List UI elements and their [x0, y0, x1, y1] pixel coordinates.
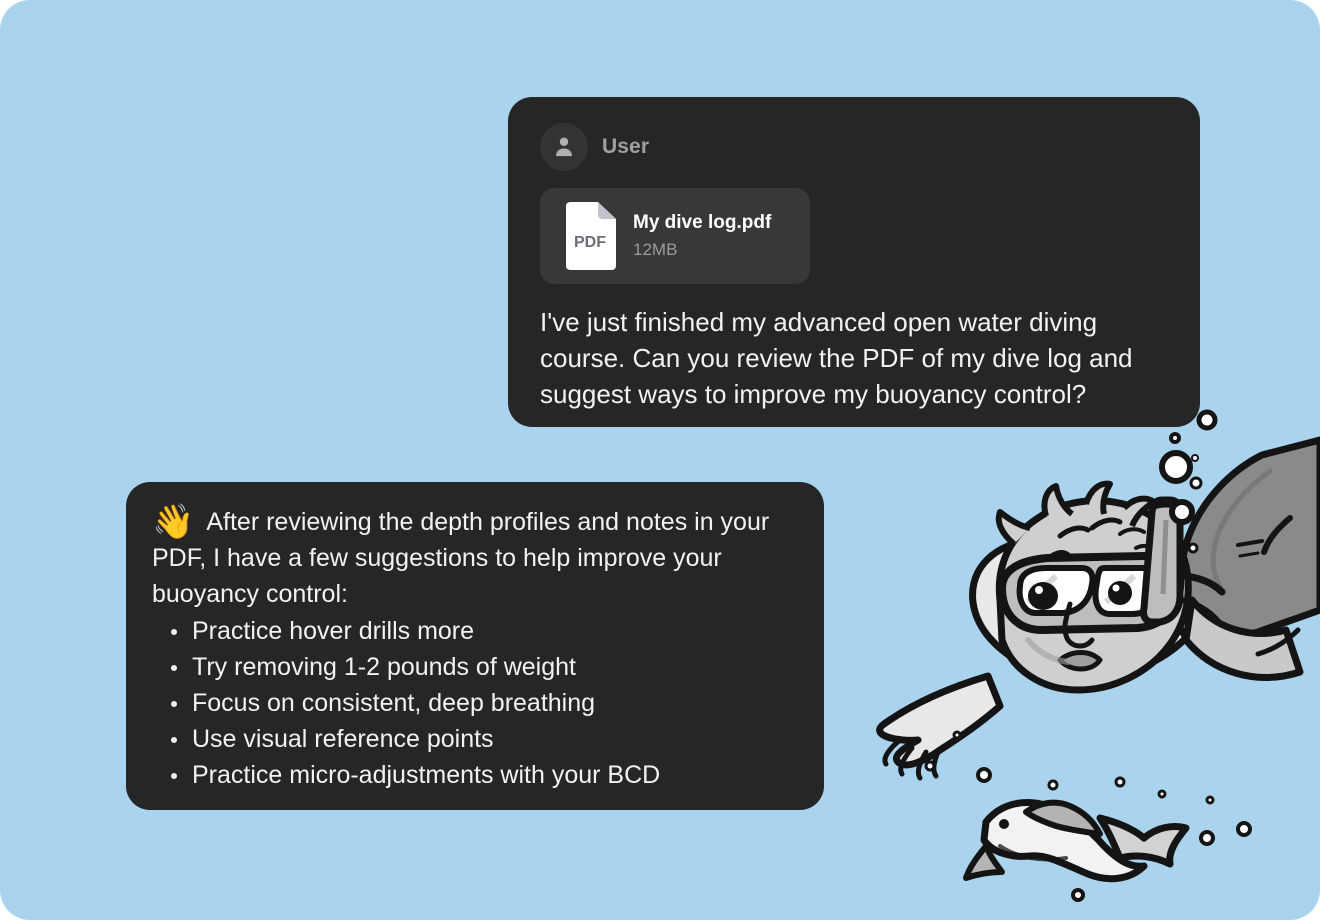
waving-hand-emoji: 👋	[152, 504, 194, 540]
diver-torso	[973, 538, 1186, 678]
list-item: Use visual reference points	[152, 721, 794, 757]
user-message-text: I've just finished my advanced open wate…	[540, 304, 1168, 412]
diver-snorkel	[1143, 500, 1180, 622]
user-message-bubble: User PDF My dive log.pdf 12MB I've just …	[508, 97, 1200, 427]
list-item: Practice micro-adjustments with your BCD	[152, 757, 794, 793]
attachment-file-name: My dive log.pdf	[633, 212, 771, 234]
chat-canvas: User PDF My dive log.pdf 12MB I've just …	[0, 0, 1320, 920]
user-avatar-icon	[540, 123, 588, 171]
list-item: Focus on consistent, deep breathing	[152, 685, 794, 721]
diver-left-arm	[864, 676, 1000, 778]
user-message-header: User	[540, 123, 1168, 171]
diver-wetsuit-arm	[1182, 440, 1320, 677]
assistant-message-body: 👋 After reviewing the depth profiles and…	[152, 504, 794, 793]
air-bubbles	[926, 387, 1250, 900]
attachment-card[interactable]: PDF My dive log.pdf 12MB	[540, 188, 810, 284]
list-item: Practice hover drills more	[152, 613, 794, 649]
attachment-file-size: 12MB	[633, 240, 771, 260]
pdf-file-icon: PDF	[560, 202, 616, 270]
pdf-icon-label: PDF	[574, 234, 606, 251]
assistant-intro-text: After reviewing the depth profiles and n…	[152, 504, 794, 612]
message-author: User	[602, 135, 649, 159]
list-item: Try removing 1-2 pounds of weight	[152, 649, 794, 685]
diver-head	[999, 484, 1222, 690]
suggestion-list: Practice hover drills more Try removing …	[152, 613, 794, 793]
fish	[966, 803, 1186, 879]
attachment-meta: My dive log.pdf 12MB	[633, 212, 771, 260]
assistant-message-bubble: 👋 After reviewing the depth profiles and…	[126, 482, 824, 810]
